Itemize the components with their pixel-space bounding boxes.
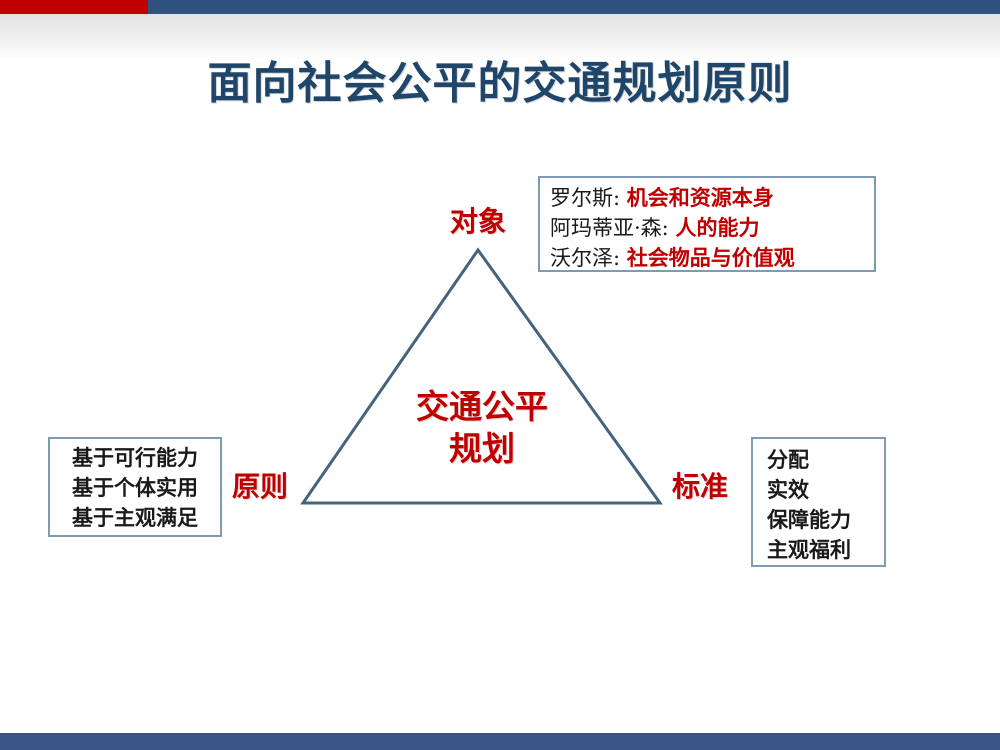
criteria-list-item: 分配 bbox=[767, 445, 884, 475]
footer-accent-bar bbox=[0, 733, 1000, 750]
object-definitions-box: 罗尔斯: 机会和资源本身 阿玛蒂亚·森: 人的能力 沃尔泽: 社会物品与价值观 bbox=[538, 176, 876, 272]
center-label-line-2: 规划 bbox=[382, 428, 582, 470]
triangle-center-label: 交通公平 规划 bbox=[382, 386, 582, 470]
slide-canvas: 面向社会公平的交通规划原则 交通公平 规划 对象 原则 标准 罗尔斯: 机会和资… bbox=[0, 0, 1000, 750]
object-row-scholar: 沃尔泽: bbox=[550, 246, 620, 270]
criteria-list-item: 主观福利 bbox=[767, 535, 884, 565]
object-row-answer: 社会物品与价值观 bbox=[627, 245, 795, 270]
principle-list-item: 基于可行能力 bbox=[50, 443, 220, 473]
object-row: 罗尔斯: 机会和资源本身 bbox=[550, 183, 866, 213]
object-row-scholar: 阿玛蒂亚·森: bbox=[550, 216, 669, 240]
principle-list-box: 基于可行能力 基于个体实用 基于主观满足 bbox=[48, 437, 222, 537]
object-row-answer: 人的能力 bbox=[675, 215, 759, 240]
criteria-list-item: 实效 bbox=[767, 475, 884, 505]
object-row: 阿玛蒂亚·森: 人的能力 bbox=[550, 213, 866, 243]
object-row: 沃尔泽: 社会物品与价值观 bbox=[550, 243, 866, 273]
object-row-answer: 机会和资源本身 bbox=[627, 185, 774, 210]
center-label-line-1: 交通公平 bbox=[382, 386, 582, 428]
principle-list-item: 基于个体实用 bbox=[50, 473, 220, 503]
object-row-scholar: 罗尔斯: bbox=[550, 186, 620, 210]
principle-list-item: 基于主观满足 bbox=[50, 503, 220, 533]
vertex-label-principle: 原则 bbox=[232, 470, 288, 504]
triangle-diagram bbox=[0, 0, 1000, 750]
criteria-list-box: 分配 实效 保障能力 主观福利 bbox=[751, 437, 886, 567]
vertex-label-criteria: 标准 bbox=[672, 470, 728, 504]
criteria-list-item: 保障能力 bbox=[767, 505, 884, 535]
vertex-label-object: 对象 bbox=[450, 205, 506, 239]
